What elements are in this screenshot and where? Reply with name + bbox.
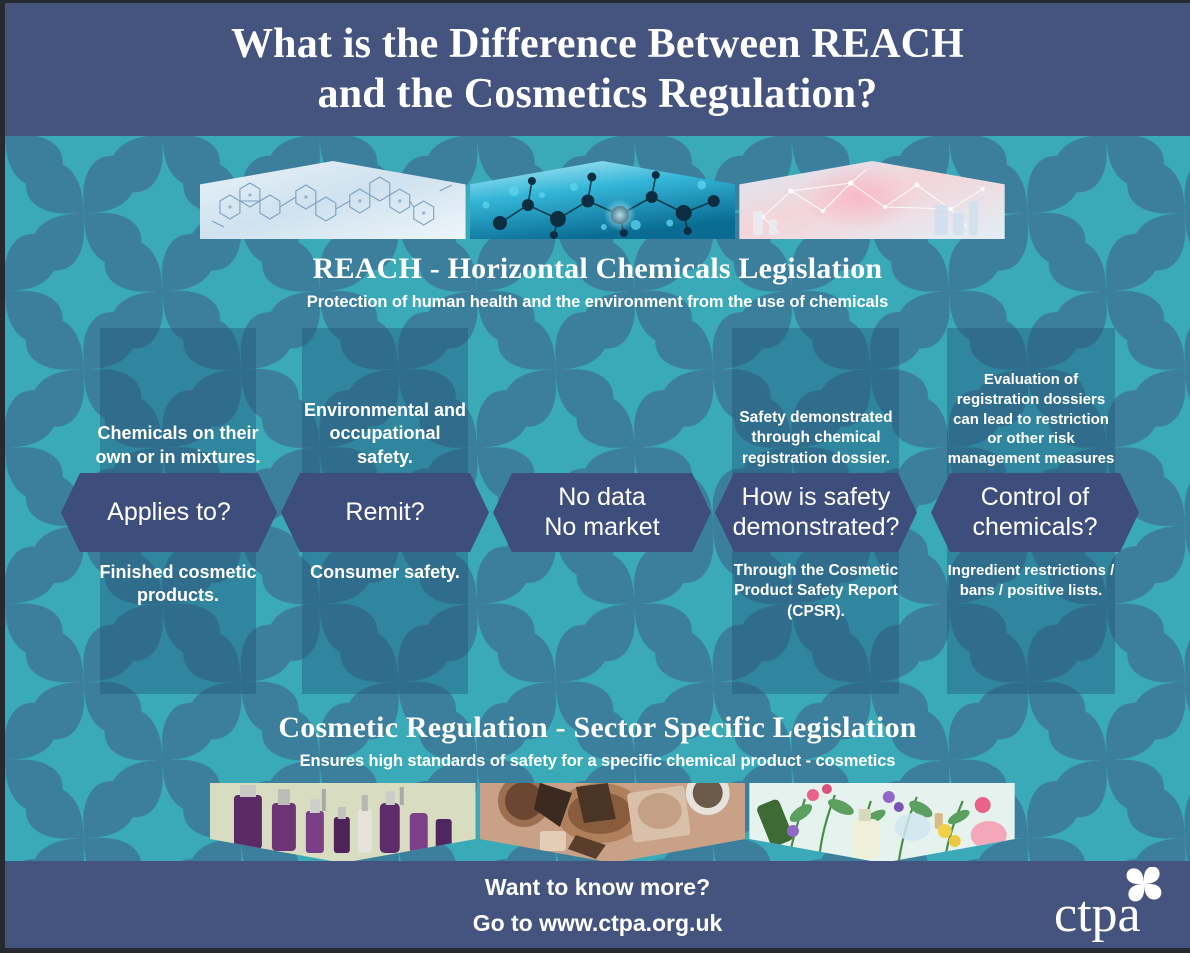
footer-banner: Want to know more? Go to www.ctpa.org.uk… xyxy=(5,861,1190,948)
comparison-grid: Chemicals on their own or in mixtures. E… xyxy=(5,3,1190,948)
cosmetic-heading: Cosmetic Regulation - Sector Specific Le… xyxy=(5,710,1190,746)
question-no-data-no-market[interactable]: No data No market xyxy=(493,473,711,552)
cosmetic-answer-how-is-safety-demonstrated: Through the Cosmetic Product Safety Repo… xyxy=(727,555,905,695)
question-how-is-safety-demonstrated[interactable]: How is safety demonstrated? xyxy=(715,473,917,552)
reach-answer-applies-to: Chemicals on their own or in mixtures. xyxy=(91,331,265,471)
footer-line-2[interactable]: Go to www.ctpa.org.uk xyxy=(5,906,1190,942)
footer-line-1: Want to know more? xyxy=(5,870,1190,906)
title-line-2: and the Cosmetics Regulation? xyxy=(318,70,878,120)
cosmetic-subheading: Ensures high standards of safety for a s… xyxy=(5,752,1190,771)
poster-title-banner: What is the Difference Between REACH and… xyxy=(5,3,1190,136)
title-line-1: What is the Difference Between REACH xyxy=(231,20,964,70)
cosmetic-section-heading: Cosmetic Regulation - Sector Specific Le… xyxy=(5,710,1190,771)
no-data-line-1: No data xyxy=(558,483,646,511)
cosmetic-answer-applies-to: Finished cosmetic products. xyxy=(91,555,265,695)
footer-call-to-action: Want to know more? Go to www.ctpa.org.uk xyxy=(5,870,1190,941)
reach-answer-control-of-chemicals: Evaluation of registration dossiers can … xyxy=(943,331,1119,471)
reach-answer-how-is-safety-demonstrated: Safety demonstrated through chemical reg… xyxy=(727,331,905,471)
question-control-of-chemicals[interactable]: Control of chemicals? xyxy=(931,473,1139,552)
question-applies-to[interactable]: Applies to? xyxy=(61,473,277,552)
cosmetic-answer-remit: Consumer safety. xyxy=(297,555,473,695)
ctpa-wordmark: ctpa xyxy=(1054,886,1141,943)
no-data-line-2: No market xyxy=(544,513,659,541)
cosmetic-answer-control-of-chemicals: Ingredient restrictions / bans / positiv… xyxy=(943,555,1119,695)
infographic-poster: What is the Difference Between REACH and… xyxy=(0,0,1190,953)
ctpa-logo[interactable]: ctpa xyxy=(1040,867,1168,943)
reach-answer-remit: Environmental and occupational safety. xyxy=(297,331,473,471)
question-remit[interactable]: Remit? xyxy=(281,473,489,552)
